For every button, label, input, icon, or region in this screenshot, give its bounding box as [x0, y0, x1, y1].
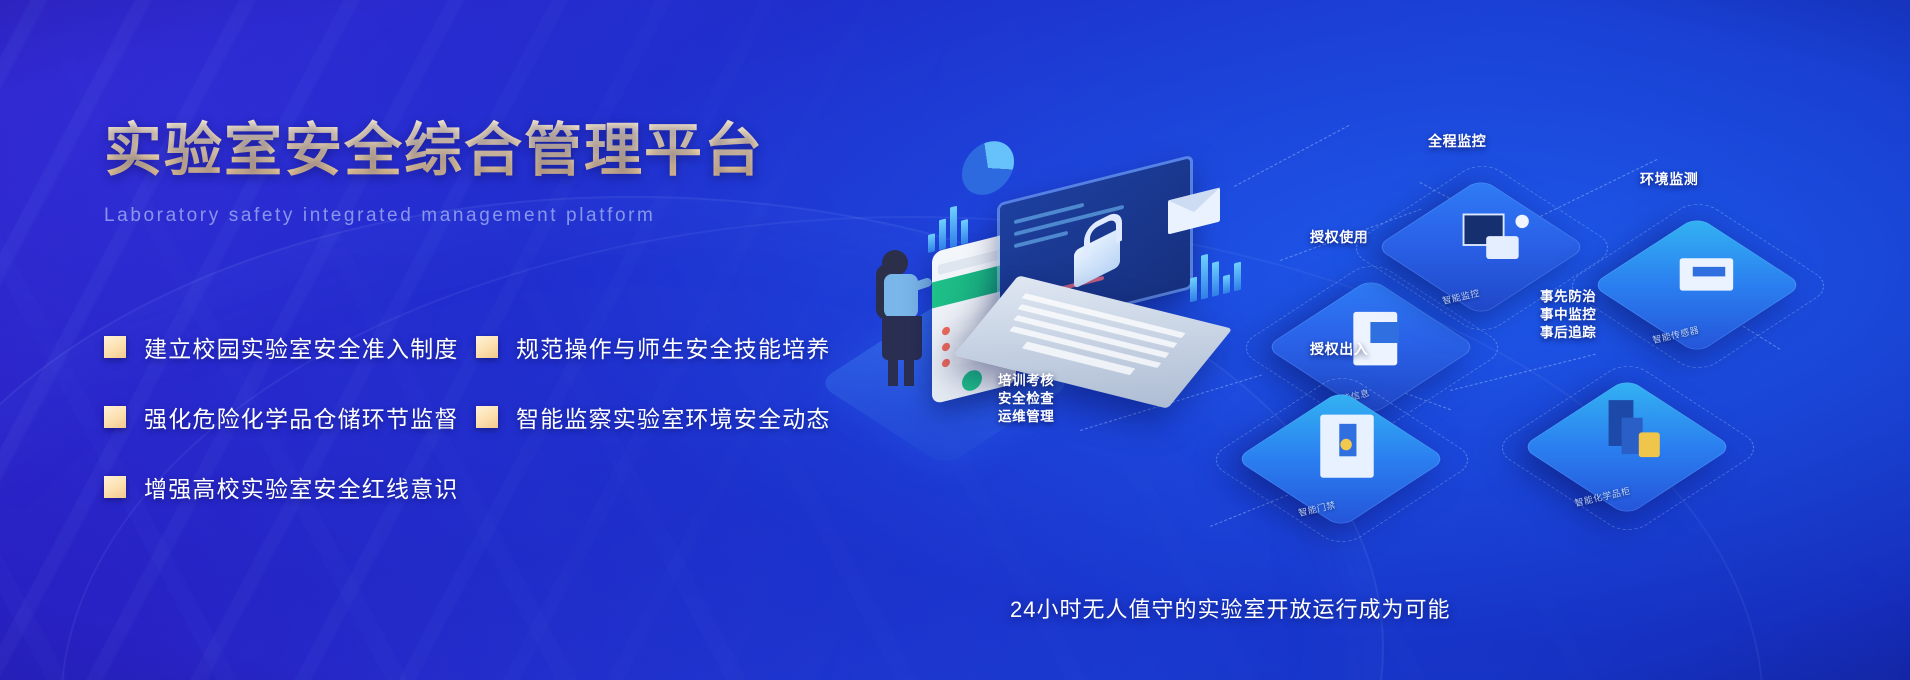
hero-banner: 实验室安全综合管理平台 Laboratory safety integrated… — [0, 0, 1910, 680]
hero-text-block: 实验室安全综合管理平台 Laboratory safety integrated… — [104, 118, 904, 227]
diagram-label-auth-pass: 授权出入 — [1310, 340, 1368, 359]
list-item: 建立校园实验室安全准入制度 — [104, 330, 476, 364]
feature-label: 规范操作与师生安全技能培养 — [516, 330, 831, 364]
feature-label: 建立校园实验室安全准入制度 — [144, 330, 459, 364]
bullet-square-icon — [476, 406, 498, 428]
page-title: 实验室安全综合管理平台 — [104, 118, 904, 185]
diagram-caption: 24小时无人值守的实验室开放运行成为可能 — [1010, 592, 1450, 624]
list-item: 增强高校实验室安全红线意识 — [104, 470, 476, 504]
phone-alert-dot — [942, 358, 950, 368]
pie-chart-icon — [959, 133, 1018, 203]
phone-alert-dot — [942, 342, 950, 352]
diagram-label-env: 环境监测 — [1640, 170, 1698, 189]
bullet-square-icon — [476, 336, 498, 358]
list-item: 强化危险化学品仓储环节监督 — [104, 400, 476, 434]
feature-label: 强化危险化学品仓储环节监督 — [144, 400, 459, 434]
feature-label: 增强高校实验室安全红线意识 — [144, 470, 459, 504]
feature-column-left: 建立校园实验室安全准入制度 强化危险化学品仓储环节监督 增强高校实验室安全红线意… — [104, 330, 476, 540]
feature-column-right: 规范操作与师生安全技能培养 智能监察实验室环境安全动态 — [476, 330, 848, 470]
diagram-label-monitor: 全程监控 — [1428, 132, 1486, 151]
diagram-label-training: 培训考核 安全检查 运维管理 — [998, 372, 1054, 427]
feature-list: 建立校园实验室安全准入制度 强化危险化学品仓储环节监督 增强高校实验室安全红线意… — [104, 330, 904, 540]
bullet-square-icon — [104, 406, 126, 428]
bullet-square-icon — [104, 336, 126, 358]
user-figure — [848, 250, 938, 390]
bullet-square-icon — [104, 476, 126, 498]
page-subtitle: Laboratory safety integrated management … — [104, 205, 904, 227]
tile-access-control — [1235, 390, 1448, 528]
connector-line — [1234, 125, 1349, 187]
bar-chart-icon — [1190, 244, 1241, 303]
diagram-illustration: 培训考核 安全检查 运维管理 授权使用 智能信息 全程监控 智能监控 环境监测 … — [980, 90, 1910, 680]
list-item: 规范操作与师生安全技能培养 — [476, 330, 848, 364]
list-item: 智能监察实验室环境安全动态 — [476, 400, 848, 434]
phone-alert-dot — [942, 326, 950, 336]
diagram-label-lifecycle: 事先防治 事中监控 事后追踪 — [1540, 288, 1596, 343]
feature-label: 智能监察实验室环境安全动态 — [516, 400, 831, 434]
